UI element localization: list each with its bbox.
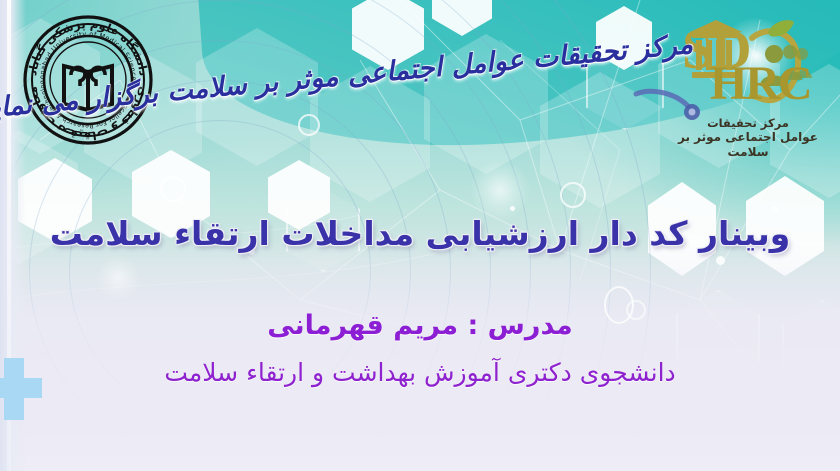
page-title: وبینار کد دار ارزشیابی مداخلات ارتقاء سل… [40,214,800,253]
webinar-poster: دانشگاه علوم پزشکی گناباد Gonabad Univer… [0,0,840,471]
speaker-name: مدرس : مریم قهرمانی [40,310,800,341]
sdhrc-mark: SD HRC [678,16,818,116]
background-dot [510,206,515,211]
background-dot [716,256,725,265]
sdhrc-acronym: SD HRC [678,20,818,116]
background-dot-ring [160,176,186,202]
sdhrc-caption: مرکز تحقیقات عوامل اجتماعی موثر بر سلامت [672,116,824,160]
light-flare [96,256,140,300]
background-dot [772,206,778,212]
sdhrc-acronym-bottom: HRC [710,60,811,108]
light-flare [470,160,530,220]
speaker-credential: دانشجوی دکتری آموزش بهداشت و ارتقاء سلام… [30,358,810,387]
sdhrc-caption-line1: مرکز تحقیقات [672,116,824,130]
background-dot-ring [560,182,586,208]
sdhrc-caption-line2: عوامل اجتماعی موثر بر سلامت [672,130,824,160]
